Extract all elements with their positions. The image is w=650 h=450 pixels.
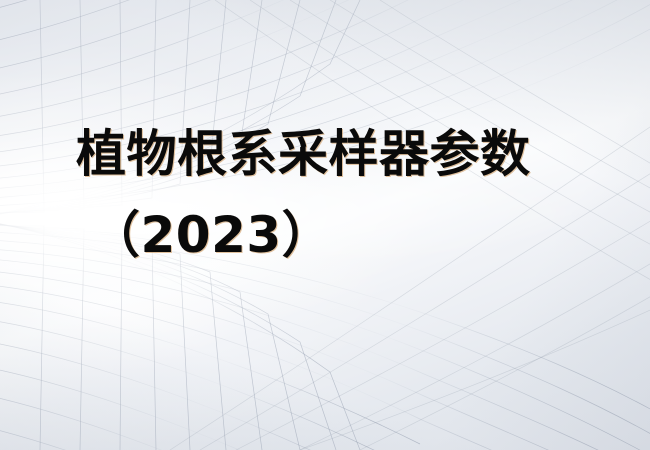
title-slide: 植物根系采样器参数 （2023） <box>0 0 650 450</box>
slide-title-block: 植物根系采样器参数 （2023） <box>0 0 650 450</box>
slide-title-line-1: 植物根系采样器参数 <box>76 125 531 183</box>
slide-title-line-2: （2023） <box>90 206 332 264</box>
